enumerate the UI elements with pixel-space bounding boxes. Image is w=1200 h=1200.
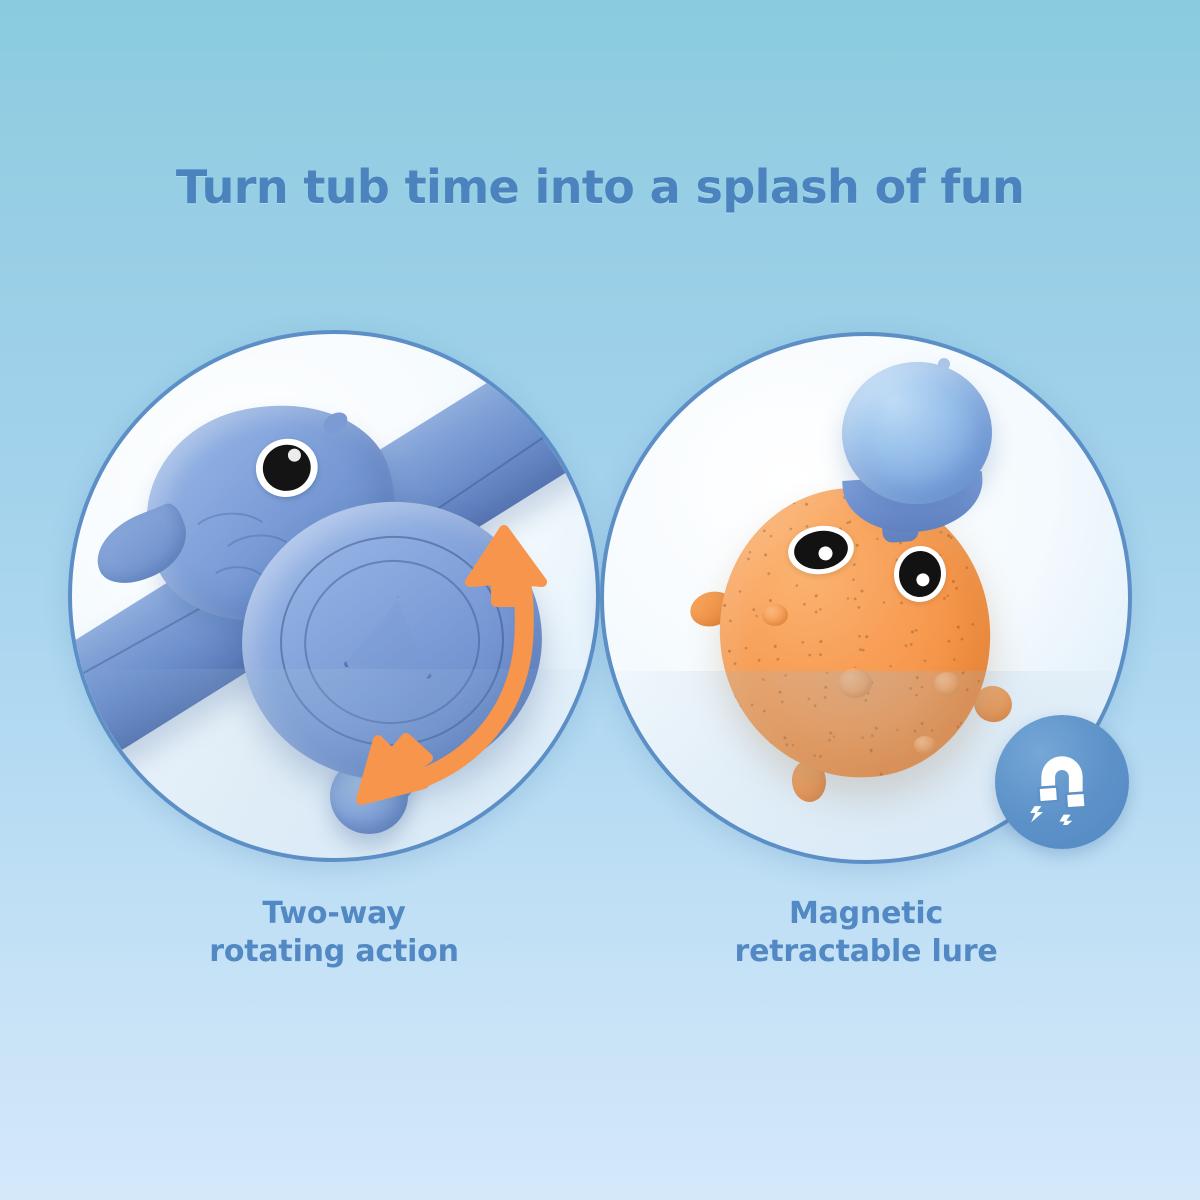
pufferfish-bump xyxy=(914,736,936,754)
fish-dorsal-nub xyxy=(320,408,352,437)
pufferfish-bump xyxy=(934,672,960,696)
spark-right xyxy=(1059,815,1072,825)
magnet-icon xyxy=(1019,739,1105,825)
pufferfish-eye-glint-left xyxy=(818,545,834,561)
caption-line-2: rotating action xyxy=(68,933,600,971)
pufferfish-pupil-left xyxy=(792,527,851,572)
fish-eye-glint xyxy=(287,447,303,463)
caption-line-2: retractable lure xyxy=(600,933,1132,971)
magnet-badge xyxy=(995,715,1129,849)
feature-panel-magnetic-retractable-lure xyxy=(600,332,1132,864)
fish-pupil xyxy=(258,440,316,496)
spark-left xyxy=(1030,806,1043,822)
pufferfish-eye-glint-right xyxy=(916,573,930,587)
pufferfish-speckle-texture xyxy=(706,475,1005,792)
feature-caption-left: Two-way rotating action xyxy=(68,895,600,972)
feature-photo-circle-left xyxy=(68,330,600,862)
caption-line-1: Two-way xyxy=(262,896,405,931)
fish-eye xyxy=(250,432,324,503)
pufferfish-body xyxy=(706,475,1005,792)
pufferfish-bump xyxy=(838,668,872,698)
caption-line-1: Magnetic xyxy=(789,896,943,931)
page-title: Turn tub time into a splash of fun xyxy=(0,160,1200,214)
pufferfish-bump xyxy=(762,604,788,626)
pufferfish-pupil-right xyxy=(897,549,944,599)
rod-seam xyxy=(78,601,214,677)
fishing-rod-reel-photo xyxy=(72,334,596,858)
feature-caption-right: Magnetic retractable lure xyxy=(600,895,1132,972)
feature-panel-two-way-rotating-action xyxy=(68,330,600,862)
